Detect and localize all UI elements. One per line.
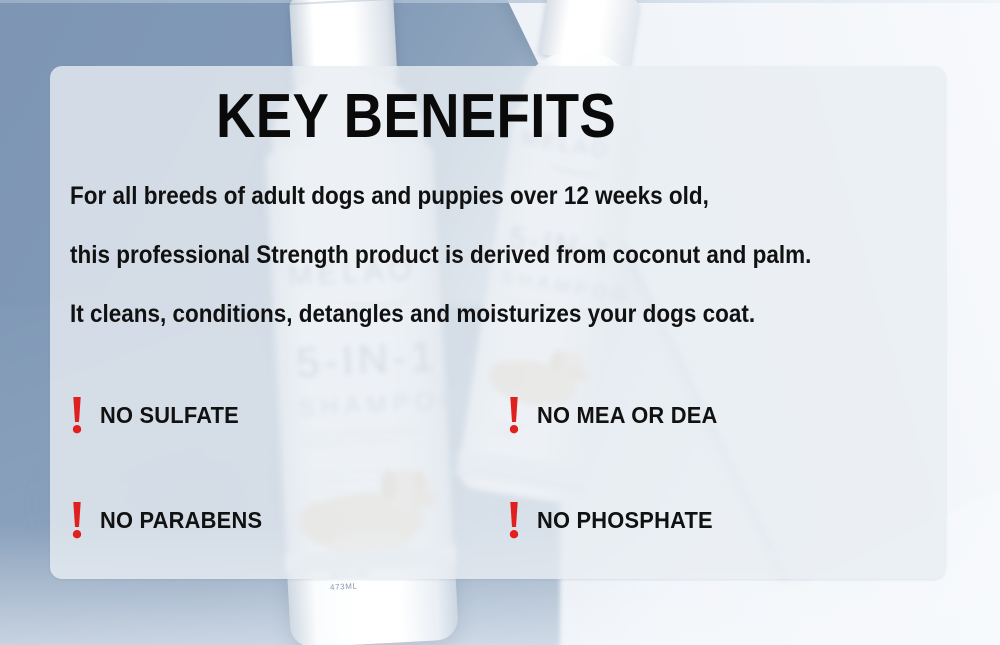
benefits-card: KEY BENEFITS For all breeds of adult dog… xyxy=(50,66,946,579)
exclamation-icon xyxy=(505,396,523,434)
product-benefits-banner: MELAO 5-IN-1 SHAMPOO CLEANS, CONDITIONS,… xyxy=(0,0,1000,645)
feature-item-no-parabens: NO PARABENS xyxy=(68,501,271,539)
background-top-edge-rule xyxy=(0,0,1000,3)
benefit-paragraph-1: For all breeds of adult dogs and puppies… xyxy=(70,184,709,209)
feature-item-no-phosphate: NO PHOSPHATE xyxy=(505,501,722,539)
page-title: KEY BENEFITS xyxy=(216,86,616,148)
feature-label: NO SULFATE xyxy=(100,402,239,429)
exclamation-icon xyxy=(68,501,86,539)
feature-item-no-sulfate: NO SULFATE xyxy=(68,396,246,434)
feature-label: NO PARABENS xyxy=(100,507,262,534)
feature-label: NO MEA OR DEA xyxy=(537,402,717,429)
feature-label: NO PHOSPHATE xyxy=(537,507,713,534)
bottle-volume-ml-front: 473ML xyxy=(330,580,369,594)
exclamation-icon xyxy=(505,501,523,539)
benefit-paragraph-3: It cleans, conditions, detangles and moi… xyxy=(70,302,755,327)
feature-item-no-mea-or-dea: NO MEA OR DEA xyxy=(505,396,727,434)
exclamation-icon xyxy=(68,396,86,434)
benefit-paragraph-2: this professional Strength product is de… xyxy=(70,243,811,268)
